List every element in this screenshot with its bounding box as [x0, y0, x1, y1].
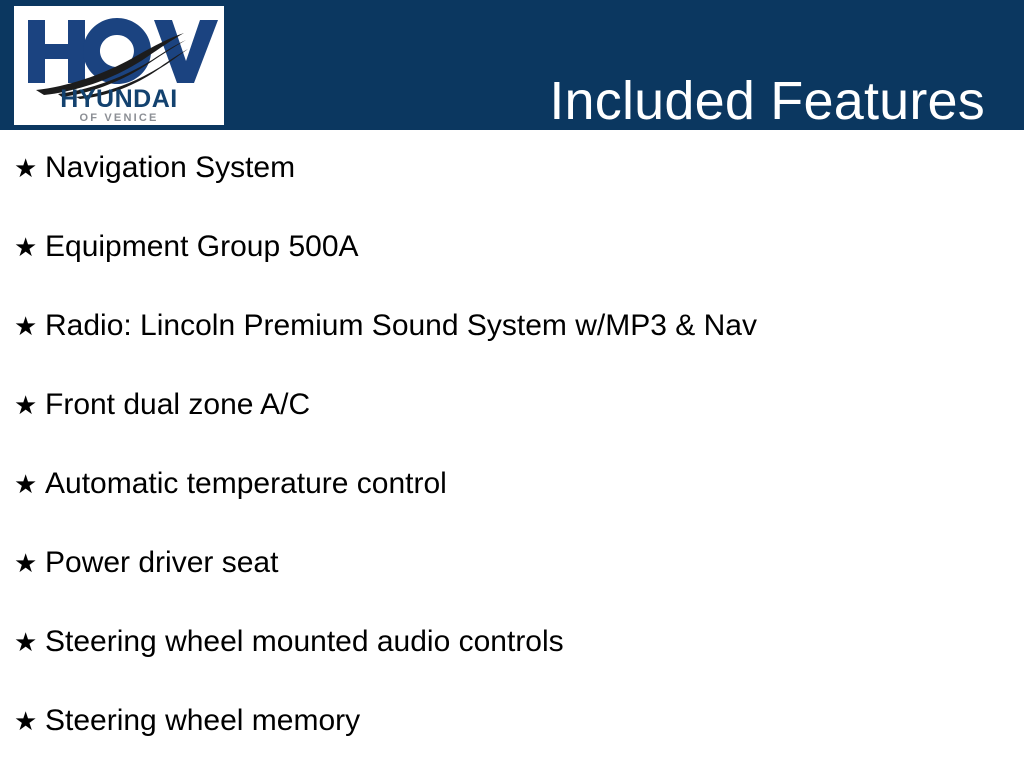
- dealer-logo: HYUNDAI OF VENICE: [14, 6, 224, 125]
- included-features-list: ★ Navigation System ★ Equipment Group 50…: [0, 130, 1024, 784]
- svg-text:OF VENICE: OF VENICE: [79, 112, 158, 124]
- list-item: ★ Power driver seat: [0, 547, 1024, 626]
- list-item: ★ Front dual zone A/C: [0, 389, 1024, 468]
- hov-logo-icon: HYUNDAI OF VENICE: [14, 6, 224, 125]
- feature-label: Radio: Lincoln Premium Sound System w/MP…: [45, 310, 1024, 341]
- feature-label: Navigation System: [45, 152, 1024, 183]
- page-title: Included Features: [549, 65, 985, 137]
- star-bullet-icon: ★: [14, 548, 45, 579]
- feature-label: Power driver seat: [45, 547, 1024, 578]
- list-item: ★ Navigation System: [0, 152, 1024, 231]
- star-bullet-icon: ★: [14, 469, 45, 500]
- list-item: ★ Equipment Group 500A: [0, 231, 1024, 310]
- star-bullet-icon: ★: [14, 232, 45, 263]
- star-bullet-icon: ★: [14, 390, 45, 421]
- feature-label: Front dual zone A/C: [45, 389, 1024, 420]
- list-item: ★ Steering wheel mounted audio controls: [0, 626, 1024, 705]
- slide-root: Included Features HYUNDAI OF VENICE: [0, 0, 1024, 768]
- feature-label: Automatic temperature control: [45, 468, 1024, 499]
- star-bullet-icon: ★: [14, 153, 45, 184]
- list-item: ★ Automatic temperature control: [0, 468, 1024, 547]
- feature-label: Steering wheel mounted audio controls: [45, 626, 1024, 657]
- feature-label: Steering wheel memory: [45, 705, 1024, 736]
- svg-text:HYUNDAI: HYUNDAI: [60, 85, 177, 113]
- list-item: ★ Radio: Lincoln Premium Sound System w/…: [0, 310, 1024, 389]
- list-item: ★ Steering wheel memory: [0, 705, 1024, 784]
- star-bullet-icon: ★: [14, 627, 45, 658]
- star-bullet-icon: ★: [14, 706, 45, 737]
- star-bullet-icon: ★: [14, 311, 45, 342]
- feature-label: Equipment Group 500A: [45, 231, 1024, 262]
